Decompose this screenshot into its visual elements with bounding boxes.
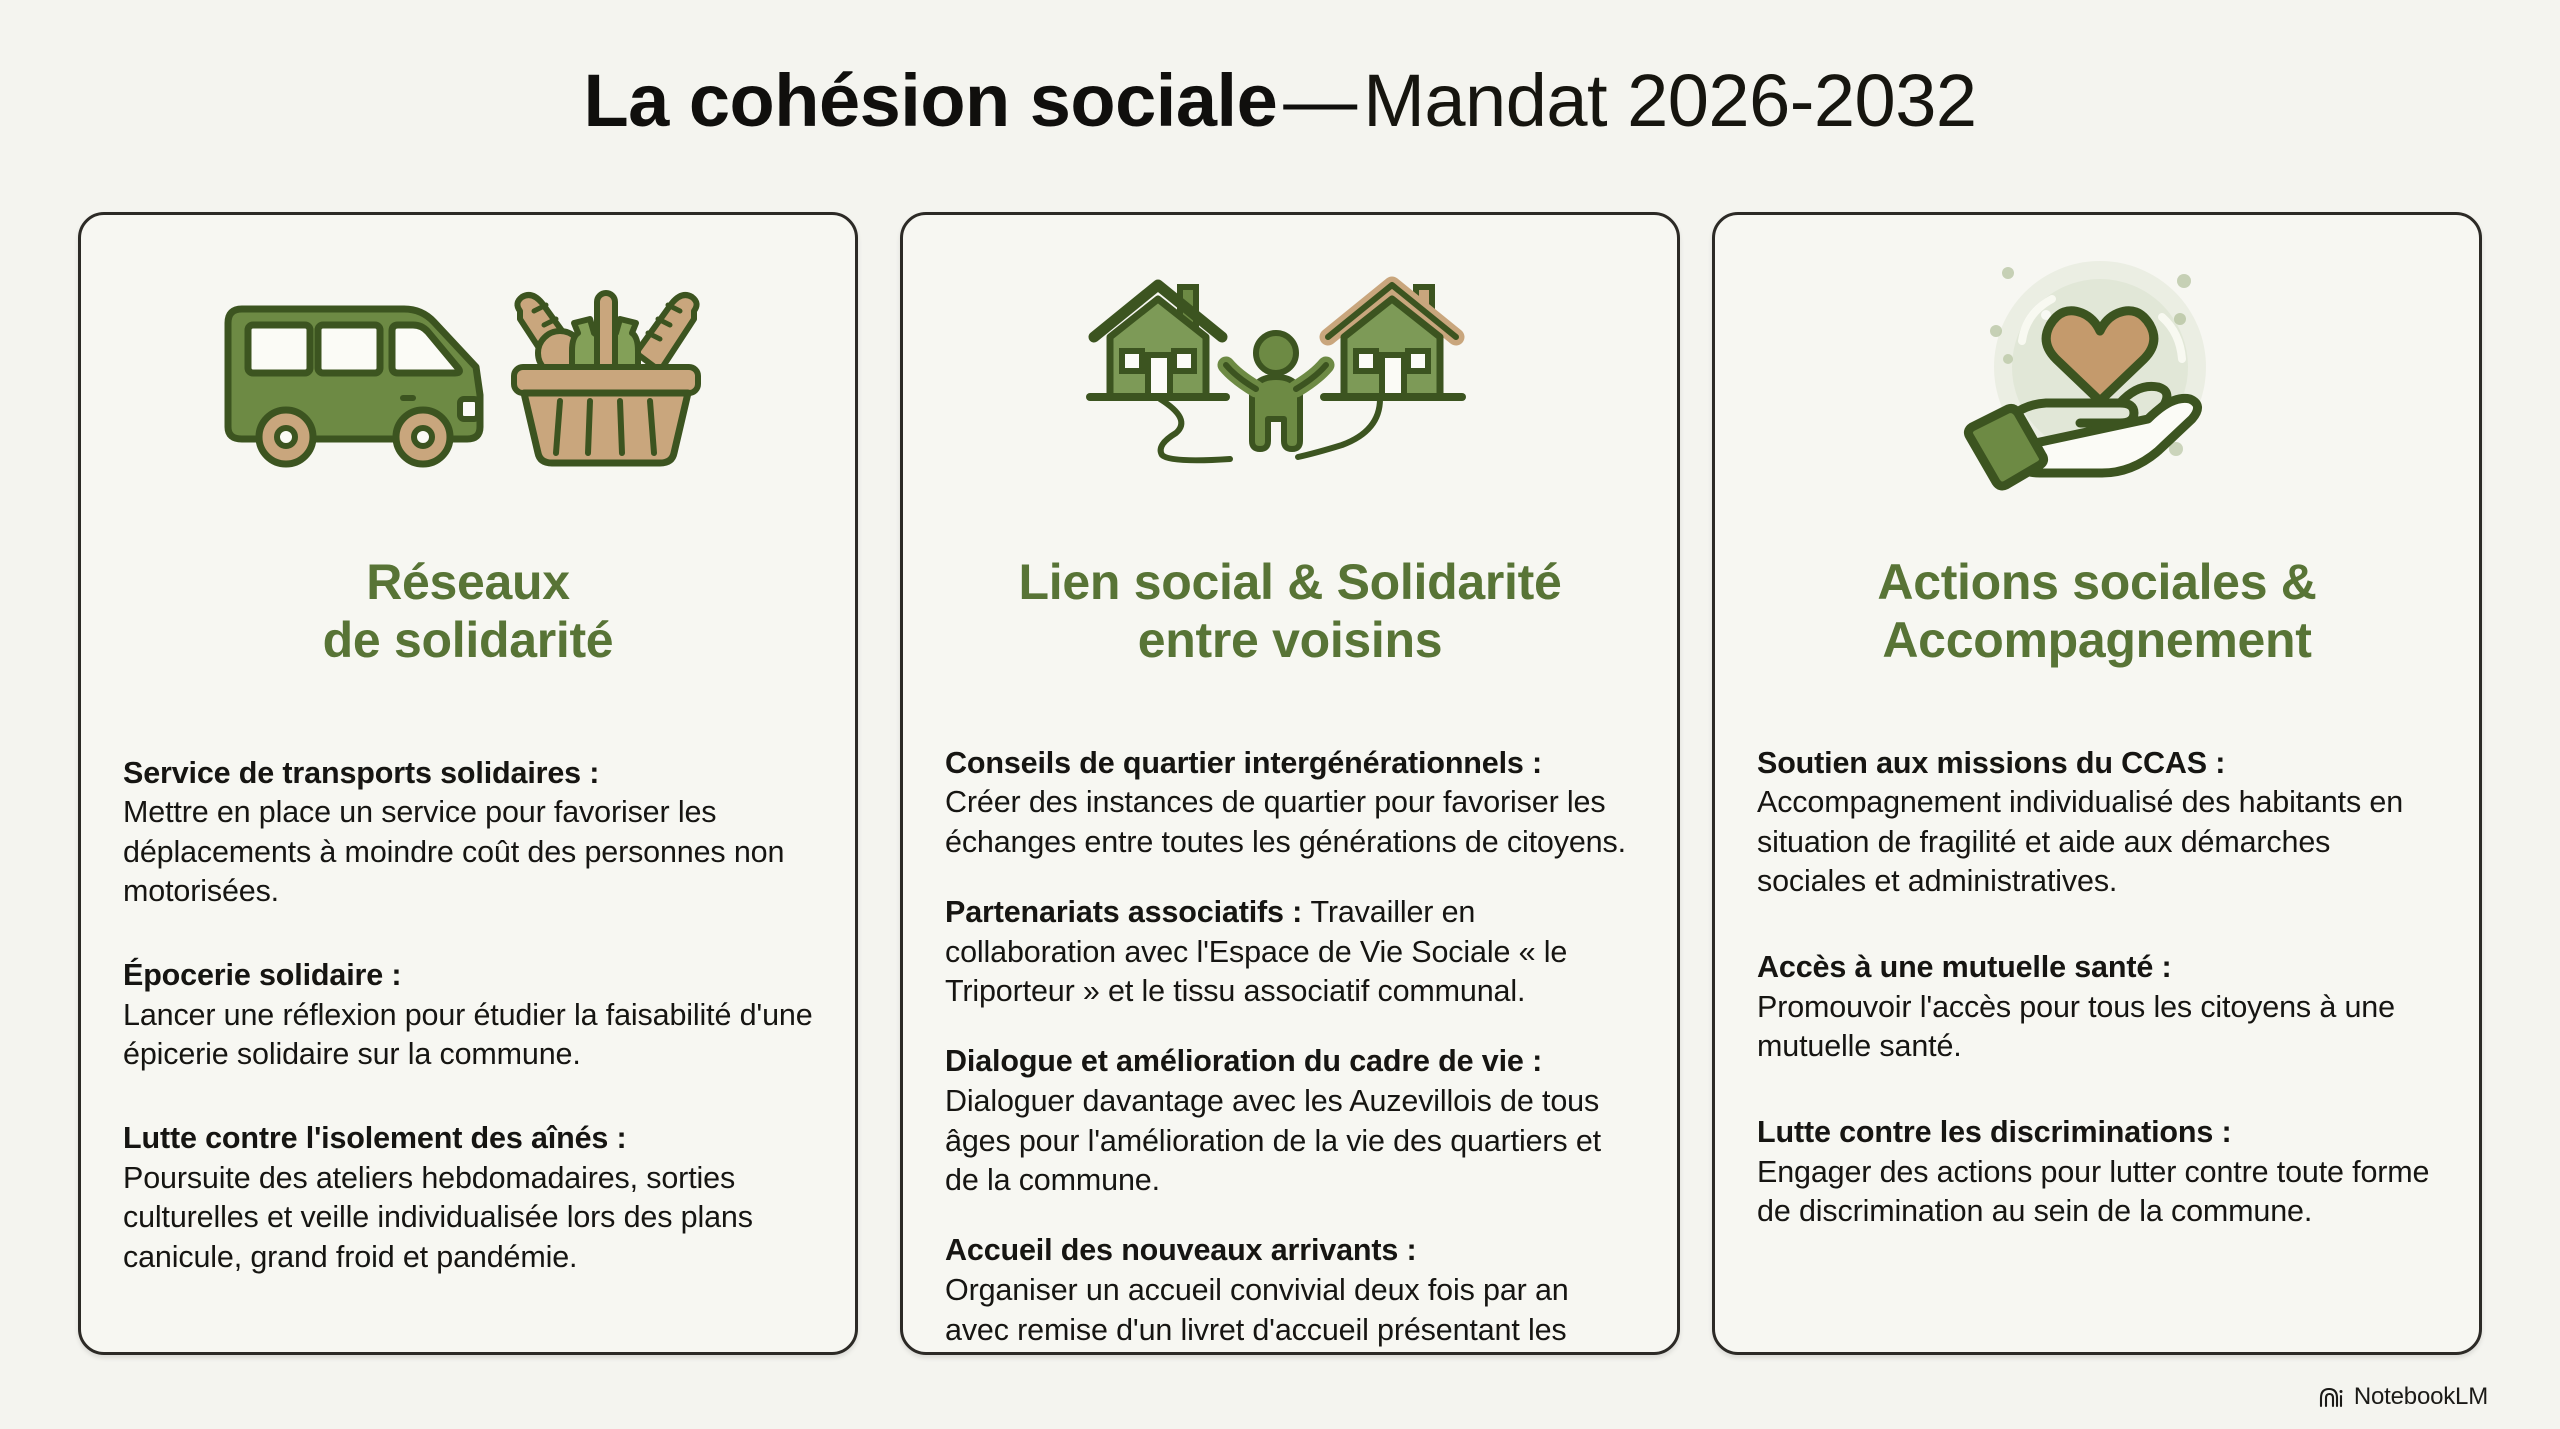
list-item: Conseils de quartier intergénérationnels… <box>945 744 1635 863</box>
item-body: Promouvoir l'accès pour tous les citoyen… <box>1757 990 2395 1064</box>
item-label: Épocerie solidaire : <box>123 956 813 996</box>
page-title: La cohésion sociale—Mandat 2026-2032 <box>0 58 2560 143</box>
item-label: Lutte contre l'isolement des aînés : <box>123 1119 813 1159</box>
list-item: Épocerie solidaire :Lancer une réflexion… <box>123 956 813 1075</box>
card-2-title-line-1: Lien social & Solidarité <box>921 553 1659 611</box>
list-item: Soutien aux missions du CCAS :Accompagne… <box>1757 744 2437 903</box>
card-reseaux-de-solidarite: Réseaux de solidarité Service de transpo… <box>78 212 858 1355</box>
item-label: Soutien aux missions du CCAS : <box>1757 744 2437 784</box>
item-body: Dialoguer davantage avec les Auzevillois… <box>945 1084 1601 1197</box>
infographic-page: La cohésion sociale—Mandat 2026-2032 <box>0 0 2560 1429</box>
item-label: Dialogue et amélioration du cadre de vie… <box>945 1042 1635 1082</box>
card-3-icon-zone <box>1715 215 2479 545</box>
hand-holding-heart-icon <box>1952 255 2242 505</box>
card-2-icon-zone <box>903 215 1677 545</box>
page-title-separator: — <box>1277 59 1363 142</box>
item-label: Lutte contre les discriminations : <box>1757 1113 2437 1153</box>
card-lien-social-solidarite: Lien social & Solidarité entre voisins C… <box>900 212 1680 1355</box>
list-item: Dialogue et amélioration du cadre de vie… <box>945 1042 1635 1201</box>
card-3-title: Actions sociales & Accompagnement <box>1715 553 2479 669</box>
list-item: Service de transports solidaires :Mettre… <box>123 754 813 913</box>
item-body: Mettre en place un service pour favorise… <box>123 795 784 908</box>
card-1-title: Réseaux de solidarité <box>81 553 855 669</box>
watermark-text: NotebookLM <box>2354 1383 2488 1411</box>
notebooklm-ripple-logo-icon <box>2319 1386 2345 1408</box>
solidarity-van-and-grocery-basket-icon <box>208 275 728 485</box>
item-body: Lancer une réflexion pour étudier la fai… <box>123 998 813 1072</box>
page-title-main: La cohésion sociale <box>583 59 1277 142</box>
item-body: Poursuite des ateliers hebdomadaires, so… <box>123 1161 753 1274</box>
item-body: Engager des actions pour lutter contre t… <box>1757 1155 2429 1229</box>
card-actions-sociales-accompagnement: Actions sociales & Accompagnement Soutie… <box>1712 212 2482 1355</box>
item-body: Créer des instances de quartier pour fav… <box>945 785 1626 859</box>
list-item: Accès à une mutuelle santé :Promouvoir l… <box>1757 948 2437 1067</box>
item-label: Partenariats associatifs : <box>945 895 1311 929</box>
notebooklm-watermark: NotebookLM <box>2319 1383 2488 1411</box>
item-label: Service de transports solidaires : <box>123 754 813 794</box>
card-1-title-line-1: Réseaux <box>99 553 837 611</box>
card-2-items: Conseils de quartier intergénérationnels… <box>903 713 1677 1355</box>
item-label: Accueil des nouveaux arrivants : <box>945 1231 1635 1271</box>
card-1-icon-zone <box>81 215 855 545</box>
item-label: Conseils de quartier intergénérationnels… <box>945 744 1635 784</box>
page-title-subtitle: Mandat 2026-2032 <box>1363 59 1976 142</box>
card-2-title-line-2: entre voisins <box>921 611 1659 669</box>
card-1-title-line-2: de solidarité <box>99 611 837 669</box>
item-label: Accès à une mutuelle santé : <box>1757 948 2437 988</box>
list-item: Lutte contre l'isolement des aînés :Pour… <box>123 1119 813 1278</box>
list-item: Partenariats associatifs :Travailler en … <box>945 893 1635 1012</box>
two-houses-with-person-and-paths-icon <box>1080 273 1500 488</box>
card-3-title-line-1: Actions sociales & <box>1733 553 2461 611</box>
list-item: Accueil des nouveaux arrivants :Organise… <box>945 1231 1635 1355</box>
card-3-items: Soutien aux missions du CCAS :Accompagne… <box>1715 713 2479 1278</box>
card-2-title: Lien social & Solidarité entre voisins <box>903 553 1677 669</box>
card-3-title-line-2: Accompagnement <box>1733 611 2461 669</box>
item-body: Organiser un accueil convivial deux fois… <box>945 1273 1569 1355</box>
item-body: Accompagnement individualisé des habitan… <box>1757 785 2403 898</box>
list-item: Lutte contre les discriminations :Engage… <box>1757 1113 2437 1232</box>
card-1-items: Service de transports solidaires :Mettre… <box>81 723 855 1322</box>
